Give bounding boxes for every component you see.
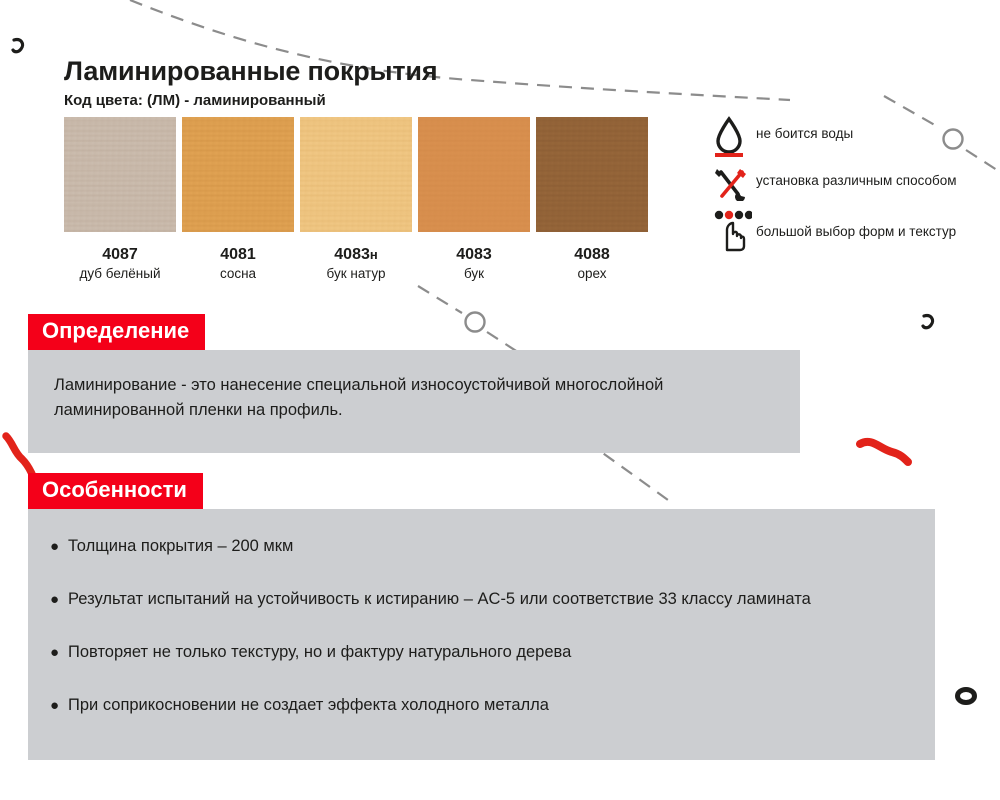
bullet-icon: ●	[50, 693, 59, 718]
wood-grain-texture	[300, 117, 412, 232]
feature-list-item-label: Повторяет не только текстуру, но и факту…	[68, 643, 571, 661]
wood-grain-texture	[418, 117, 530, 232]
swatch-chip	[64, 117, 176, 232]
tools-icon	[714, 167, 756, 201]
swatch-name: орех	[578, 266, 607, 281]
feature-legend: не боится воды установка р	[714, 116, 984, 261]
color-swatch-row: 4087дуб белёный4081сосна4083нбук натур40…	[64, 117, 648, 281]
legend-item-water: не боится воды	[714, 116, 984, 158]
color-swatch-4087: 4087дуб белёный	[64, 117, 176, 281]
definition-tab-label: Определение	[28, 314, 205, 350]
features-panel: ●Толщина покрытия – 200 мкм●Результат ис…	[28, 509, 935, 760]
comma-mark-right	[923, 316, 933, 328]
ring-mark-bottom-right	[958, 690, 975, 703]
definition-text: Ламинирование - это нанесение специально…	[54, 373, 774, 423]
features-tab-label: Особенности	[28, 473, 203, 509]
swatch-code: 4083	[456, 246, 492, 264]
swatch-chip	[536, 117, 648, 232]
legend-item-install: установка различным способом	[714, 167, 984, 201]
dashed-line-middle-upper	[418, 286, 462, 313]
color-swatch-4083: 4083бук	[418, 117, 530, 281]
swatch-code: 4088	[574, 246, 610, 264]
bullet-icon: ●	[50, 587, 59, 612]
bullet-icon: ●	[50, 534, 59, 559]
feature-list-item: ●Повторяет не только текстуру, но и факт…	[50, 640, 913, 665]
bullet-icon: ●	[50, 640, 59, 665]
feature-list-item-label: При соприкосновении не создает эффекта х…	[68, 696, 549, 714]
feature-list-item-label: Толщина покрытия – 200 мкм	[68, 537, 293, 555]
swatch-code-suffix: н	[370, 247, 378, 262]
swatch-code: 4087	[102, 246, 138, 264]
page-subtitle: Код цвета: (ЛМ) - ламинированный	[64, 92, 437, 109]
features-section: Особенности ●Толщина покрытия – 200 мкм●…	[28, 473, 935, 760]
swatch-chip	[418, 117, 530, 232]
water-drop-icon	[714, 116, 756, 158]
swatch-code: 4081	[220, 246, 256, 264]
feature-list-item-label: Результат испытаний на устойчивость к ис…	[68, 590, 811, 608]
swatch-name: сосна	[220, 266, 256, 281]
swatch-chip	[300, 117, 412, 232]
swatch-name: бук натур	[327, 266, 386, 281]
features-list: ●Толщина покрытия – 200 мкм●Результат ис…	[50, 534, 913, 718]
header-block: Ламинированные покрытия Код цвета: (ЛМ) …	[64, 56, 437, 109]
definition-section: Определение Ламинирование - это нанесени…	[28, 314, 800, 453]
wood-grain-texture	[64, 117, 176, 232]
definition-panel: Ламинирование - это нанесение специально…	[28, 350, 800, 453]
wood-grain-texture	[536, 117, 648, 232]
swatch-code: 4083н	[334, 246, 377, 264]
color-swatch-4081: 4081сосна	[182, 117, 294, 281]
feature-list-item: ●Результат испытаний на устойчивость к и…	[50, 587, 913, 612]
legend-item-water-label: не боится воды	[756, 116, 853, 141]
color-swatch-4088: 4088орех	[536, 117, 648, 281]
red-squiggle-right	[860, 442, 908, 462]
swatch-name: бук	[464, 266, 484, 281]
swatch-name: дуб белёный	[80, 266, 161, 281]
feature-list-item: ●При соприкосновении не создает эффекта …	[50, 693, 913, 718]
comma-mark-top-left	[13, 40, 23, 52]
feature-list-item: ●Толщина покрытия – 200 мкм	[50, 534, 913, 559]
poster-page: Ламинированные покрытия Код цвета: (ЛМ) …	[0, 0, 1000, 800]
legend-item-install-label: установка различным способом	[756, 167, 957, 188]
page-title: Ламинированные покрытия	[64, 56, 437, 87]
legend-item-choice-label: большой выбор форм и текстур	[756, 210, 956, 239]
hand-pointer-icon	[714, 210, 756, 252]
color-swatch-4083н: 4083нбук натур	[300, 117, 412, 281]
wood-grain-texture	[182, 117, 294, 232]
swatch-chip	[182, 117, 294, 232]
legend-item-choice: большой выбор форм и текстур	[714, 210, 984, 252]
